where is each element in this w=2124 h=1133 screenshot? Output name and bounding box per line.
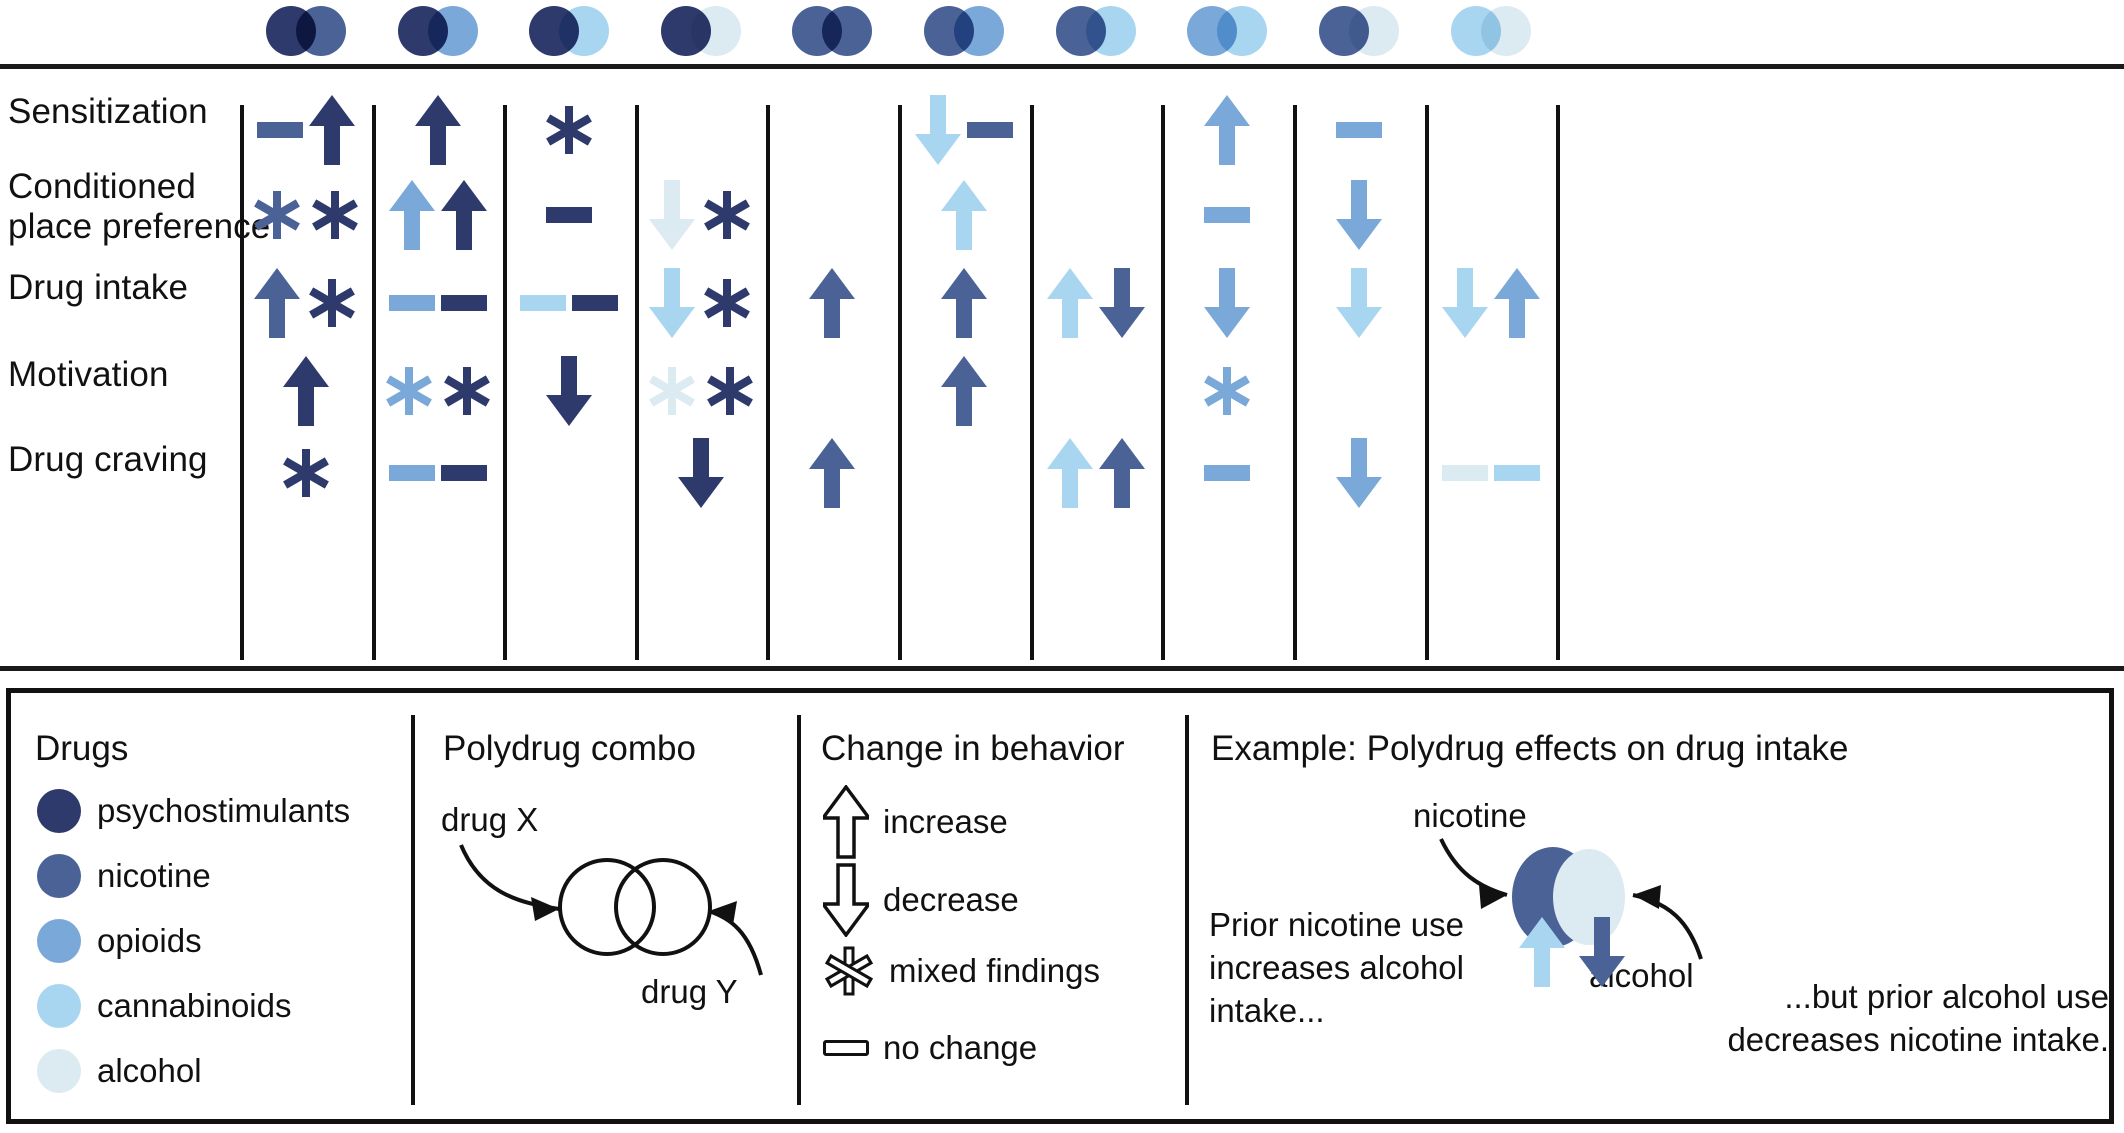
decrease-arrow-icon — [1336, 266, 1382, 340]
example-arrows — [1519, 915, 1625, 989]
drug-circle-nicotine — [296, 6, 346, 56]
example-text-left: Prior nicotine use increases alcohol int… — [1209, 903, 1509, 1032]
increase-arrow-icon — [441, 178, 487, 252]
no-change-outline-icon — [823, 1040, 869, 1056]
column-header-combo — [1161, 2, 1293, 60]
decrease-arrow-icon — [546, 354, 592, 428]
increase-arrow-icon — [941, 266, 987, 340]
column-header-combo — [240, 2, 372, 60]
example-text-right: ...but prior alcohol use decreases nicot… — [1629, 975, 2109, 1061]
legend-divider-1 — [411, 715, 415, 1105]
legend-drugs-title: Drugs — [35, 729, 128, 769]
legend-drug-item: alcohol — [37, 1049, 202, 1093]
mixed-findings-icon — [646, 365, 698, 417]
no-change-icon — [441, 465, 487, 481]
no-change-icon — [572, 295, 618, 311]
matrix-cell — [898, 336, 1030, 446]
row-label: Drug craving — [8, 440, 208, 480]
drug-circle-alcohol — [1481, 6, 1531, 56]
matrix-cell — [1425, 248, 1557, 358]
matrix-cell — [240, 418, 372, 528]
no-change-icon — [1442, 465, 1488, 481]
drug-swatch-cannabinoids — [37, 984, 81, 1028]
matrix-cell — [635, 418, 767, 528]
legend-behavior-item: no change — [823, 1029, 1037, 1067]
mixed-findings-icon — [701, 189, 753, 241]
matrix-cell — [503, 336, 635, 446]
legend-drug-item: nicotine — [37, 854, 211, 898]
increase-outline-icon — [823, 785, 869, 859]
matrix-top-rule — [0, 64, 2124, 69]
polydrug-combo-diagram: drug X drug Y — [431, 785, 791, 1015]
mixed-findings-icon — [1201, 365, 1253, 417]
drug-circle-opioids — [428, 6, 478, 56]
legend-drug-item: psychostimulants — [37, 789, 350, 833]
no-change-icon — [1204, 465, 1250, 481]
decrease-arrow-icon — [678, 436, 724, 510]
column-header-combo — [372, 2, 504, 60]
decrease-arrow-nicotine — [1579, 915, 1625, 989]
drug-circle-alcohol — [1349, 6, 1399, 56]
no-change-icon — [546, 207, 592, 223]
increase-arrow-icon — [809, 266, 855, 340]
behavior-label: decrease — [883, 881, 1019, 919]
column-divider — [1425, 105, 1429, 660]
no-change-icon — [520, 295, 566, 311]
no-change-icon — [389, 465, 435, 481]
svg-text:drug X: drug X — [441, 801, 538, 838]
legend-example-title: Example: Polydrug effects on drug intake — [1211, 729, 1849, 769]
legend-behavior-item: decrease — [823, 863, 1019, 937]
no-change-icon — [1494, 465, 1540, 481]
legend-divider-3 — [1185, 715, 1189, 1105]
mixed-findings-icon — [383, 365, 435, 417]
legend-divider-2 — [797, 715, 801, 1105]
mixed-findings-icon — [704, 365, 756, 417]
matrix-cell — [1293, 418, 1425, 528]
drug-label: cannabinoids — [97, 987, 292, 1025]
matrix-cell — [372, 418, 504, 528]
increase-arrow-icon — [254, 266, 300, 340]
increase-arrow-icon — [389, 178, 435, 252]
drug-swatch-alcohol — [37, 1049, 81, 1093]
legend-drug-item: cannabinoids — [37, 984, 292, 1028]
drug-swatch-psychostimulants — [37, 789, 81, 833]
drug-circle-opioids — [954, 6, 1004, 56]
column-header-combo — [766, 2, 898, 60]
drug-swatch-nicotine — [37, 854, 81, 898]
mixed-findings-icon — [441, 365, 493, 417]
no-change-icon — [1336, 122, 1382, 138]
mixed-findings-icon — [309, 189, 361, 241]
increase-arrow-icon — [1494, 266, 1540, 340]
increase-arrow-icon — [941, 354, 987, 428]
column-header-combo — [1030, 2, 1162, 60]
row-label: Drug intake — [8, 268, 188, 308]
decrease-arrow-icon — [649, 178, 695, 252]
drug-label: nicotine — [97, 857, 211, 895]
legend-behavior-title: Change in behavior — [821, 729, 1125, 769]
mixed-findings-icon — [251, 189, 303, 241]
increase-arrow-icon — [941, 178, 987, 252]
no-change-icon — [257, 122, 303, 138]
matrix-cell — [1425, 418, 1557, 528]
row-label: Conditionedplace preference — [8, 167, 270, 247]
decrease-arrow-icon — [1442, 266, 1488, 340]
legend-drug-item: opioids — [37, 919, 202, 963]
decrease-arrow-icon — [649, 266, 695, 340]
drug-circle-cannabinoids — [1086, 6, 1136, 56]
no-change-icon — [967, 122, 1013, 138]
column-divider — [1556, 105, 1560, 660]
column-header-combo — [503, 2, 635, 60]
mixed-findings-icon — [306, 277, 358, 329]
decrease-arrow-icon — [1336, 436, 1382, 510]
legend-combo-title: Polydrug combo — [443, 729, 696, 769]
legend-behavior-item: increase — [823, 785, 1008, 859]
matrix-cell — [1293, 248, 1425, 358]
behavior-label: mixed findings — [889, 952, 1100, 990]
mixed-findings-icon — [701, 277, 753, 329]
increase-arrow-icon — [1047, 436, 1093, 510]
drug-label: psychostimulants — [97, 792, 350, 830]
decrease-arrow-icon — [1099, 266, 1145, 340]
matrix-cell — [766, 248, 898, 358]
increase-arrow-icon — [809, 436, 855, 510]
increase-arrow-icon — [1047, 266, 1093, 340]
svg-text:nicotine: nicotine — [1413, 797, 1527, 834]
legend-behavior-item: mixed findings — [823, 945, 1100, 997]
decrease-arrow-icon — [1336, 178, 1382, 252]
polydrug-effects-figure: SensitizationConditionedplace preference… — [0, 0, 2124, 1133]
column-header-combo — [898, 2, 1030, 60]
column-header-row — [0, 0, 2124, 62]
column-header-combo — [635, 2, 767, 60]
matrix-cell — [1030, 248, 1162, 358]
drug-circle-cannabinoids — [1217, 6, 1267, 56]
decrease-outline-icon — [823, 863, 869, 937]
matrix-bottom-rule — [0, 666, 2124, 671]
column-header-combo — [1425, 2, 1557, 60]
drug-circle-alcohol — [691, 6, 741, 56]
matrix-cell — [1030, 418, 1162, 528]
row-label: Motivation — [8, 355, 169, 395]
drug-label: alcohol — [97, 1052, 202, 1090]
mixed-findings-icon — [543, 104, 595, 156]
behavior-label: increase — [883, 803, 1008, 841]
row-label: Sensitization — [8, 92, 208, 132]
matrix-cell — [766, 418, 898, 528]
drug-circle-nicotine — [822, 6, 872, 56]
mixed-outline-icon — [823, 945, 875, 997]
legend-box: Drugs psychostimulantsnicotineopioidscan… — [6, 688, 2114, 1124]
decrease-arrow-icon — [1204, 266, 1250, 340]
increase-arrow-icon — [1099, 436, 1145, 510]
drug-label: opioids — [97, 922, 202, 960]
drug-circle-cannabinoids — [559, 6, 609, 56]
no-change-icon — [389, 295, 435, 311]
behavior-label: no change — [883, 1029, 1037, 1067]
no-change-icon — [441, 295, 487, 311]
no-change-icon — [1204, 207, 1250, 223]
increase-arrow-icon — [283, 354, 329, 428]
increase-arrow-cannabinoids — [1519, 915, 1565, 989]
mixed-findings-icon — [280, 447, 332, 499]
column-header-combo — [1293, 2, 1425, 60]
drug-swatch-opioids — [37, 919, 81, 963]
matrix-cell — [1161, 418, 1293, 528]
svg-text:drug Y: drug Y — [641, 973, 738, 1010]
column-divider — [1030, 105, 1034, 660]
